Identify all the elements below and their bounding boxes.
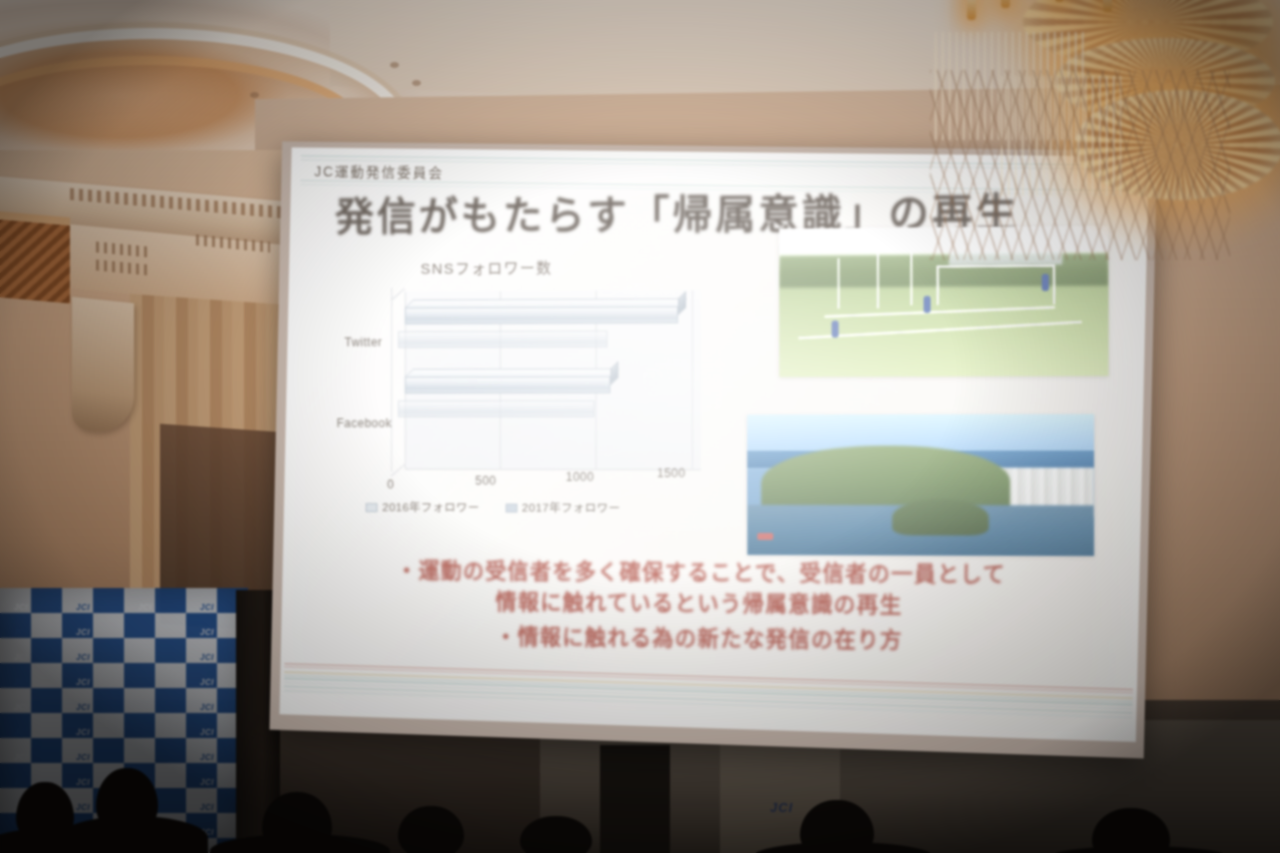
xtick-0: 0: [387, 478, 394, 492]
pitch-goal: [936, 265, 1055, 305]
corbel-bracket: [72, 297, 134, 436]
legend-swatch-icon: [505, 503, 517, 512]
pitch-floodlight-pole: [910, 245, 912, 305]
legend-item-2017: 2017年フォロワー: [505, 500, 620, 516]
axis-depth-edge: [391, 464, 405, 476]
category-label-twitter: Twitter: [344, 335, 382, 349]
slide-footer-band: [284, 663, 1133, 731]
bar-front-face: [398, 331, 607, 349]
bar-facebook-2016: [398, 400, 595, 417]
dark-doorway: [600, 745, 670, 853]
bar-front-face: [405, 376, 611, 393]
legend-swatch-icon: [366, 503, 378, 512]
sns-follower-chart: SNSフォロワー数: [342, 256, 717, 546]
bar-twitter-2017: [405, 306, 678, 324]
slide-header-text: JC運動発信委員会: [314, 161, 444, 182]
pitch-stadium-building: [949, 235, 1061, 266]
gridline-1500: [692, 290, 693, 470]
bar-facebook-2017: [405, 376, 611, 393]
chart-legend: 2016年フォロワー 2017年フォロワー: [366, 499, 621, 516]
pitch-floodlight-pole: [877, 252, 879, 309]
ceiling-sprinkler: [250, 92, 259, 98]
soccer-pitch-photo: [779, 226, 1108, 377]
chart-plot-area: [405, 290, 701, 470]
coast-boat: [757, 533, 773, 540]
pitch-player: [923, 296, 930, 313]
ceiling-sprinkler: [390, 62, 399, 68]
presentation-slide: JC運動発信委員会 発信がもたらす「帰属意識」の再生 SNSフォロワー数: [279, 147, 1148, 742]
pitch-player: [831, 320, 838, 337]
photo-scene: JCI JCIJCIJCIJCIJCIJCIJCIJCIJCIJCIJCIJCI…: [0, 0, 1280, 853]
ceiling-sprinkler: [412, 80, 421, 86]
pitch-floodlight-pole: [838, 258, 840, 309]
axis-front-edge: [391, 288, 392, 472]
pitch-marking: [825, 306, 1055, 317]
xtick-1500: 1500: [657, 466, 686, 480]
bullet-line-2: 情報に触れているという帰属意識の再生: [319, 586, 1088, 623]
column-capital: [0, 211, 70, 304]
category-label-facebook: Facebook: [337, 416, 392, 430]
slide-bullet-block: ・運動の受信者を多く確保することで、受信者の一員として 情報に触れているという帰…: [319, 556, 1088, 659]
legend-label-2017: 2017年フォロワー: [522, 500, 620, 516]
bar-twitter-2016: [398, 331, 607, 349]
coastal-town-photo: [747, 414, 1094, 556]
xtick-1000: 1000: [566, 470, 594, 484]
xtick-500: 500: [475, 474, 496, 488]
axis-depth-edge: [391, 288, 405, 300]
projection-screen: JC運動発信委員会 発信がもたらす「帰属意識」の再生 SNSフォロワー数: [269, 141, 1157, 758]
bar-front-face: [405, 306, 678, 324]
footer-rule: [284, 678, 1132, 705]
pitch-player: [1042, 274, 1049, 291]
legend-item-2016: 2016年フォロワー: [366, 499, 480, 515]
bullet-line-1: ・運動の受信者を多く確保することで、受信者の一員として: [319, 556, 1088, 592]
jci-wall-sign: JCI: [770, 800, 793, 815]
bullet-line-3: ・情報に触れる為の新たな発信の在り方: [319, 621, 1088, 659]
chart-title: SNSフォロワー数: [421, 257, 553, 279]
audience-shoulders: [58, 816, 208, 853]
pitch-marking: [799, 321, 1082, 339]
legend-label-2016: 2016年フォロワー: [382, 499, 479, 515]
coast-foreground-trees: [892, 499, 989, 536]
bar-front-face: [398, 400, 595, 417]
